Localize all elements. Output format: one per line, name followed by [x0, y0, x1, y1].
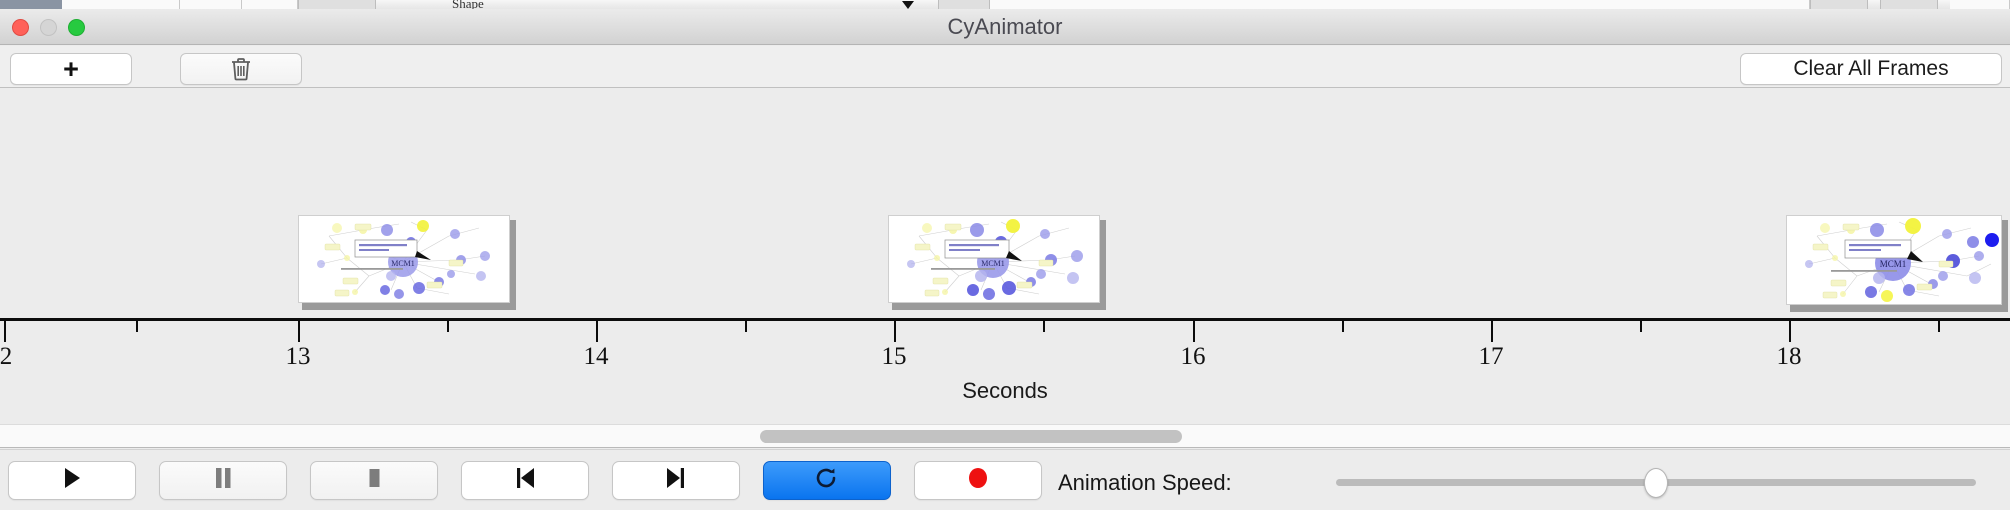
axis-tick-major — [1491, 321, 1493, 342]
svg-text:MCM1: MCM1 — [1880, 259, 1907, 269]
axis-tick-minor — [1640, 321, 1642, 332]
trash-icon — [230, 57, 252, 81]
timeline-axis: 2 13 14 15 16 17 18 Seconds — [0, 318, 2010, 422]
add-frame-button[interactable]: + — [10, 53, 132, 85]
network-thumbnail: MCM1 — [888, 215, 1100, 303]
record-icon — [967, 467, 989, 494]
axis-tick-major — [894, 321, 896, 342]
plus-icon: + — [63, 56, 79, 83]
background-sidebar — [0, 0, 62, 9]
background-window-label: Shape — [452, 0, 484, 9]
network-thumbnail: MCM1 — [298, 215, 510, 303]
play-icon — [62, 467, 82, 494]
axis-label: 13 — [286, 343, 311, 371]
play-button[interactable] — [8, 461, 136, 500]
clear-all-frames-button[interactable]: Clear All Frames — [1740, 53, 2002, 85]
axis-baseline — [0, 318, 2010, 321]
axis-label: 14 — [584, 343, 609, 371]
axis-label: 18 — [1777, 343, 1802, 371]
svg-text:MCM1: MCM1 — [981, 259, 1005, 268]
timeline-scrollbar[interactable] — [0, 424, 2010, 448]
scrollbar-thumb[interactable] — [760, 430, 1182, 443]
animation-speed-slider[interactable] — [1336, 479, 1976, 486]
pause-icon — [213, 467, 233, 494]
stop-button[interactable] — [310, 461, 438, 500]
axis-tick-minor — [136, 321, 138, 332]
axis-label: 17 — [1479, 343, 1504, 371]
axis-label: 15 — [882, 343, 907, 371]
axis-tick-major — [298, 321, 300, 342]
record-button[interactable] — [914, 461, 1042, 500]
background-tab — [1880, 0, 1938, 9]
window-title: CyAnimator — [0, 9, 2010, 45]
background-segment — [62, 0, 180, 9]
background-tab — [298, 0, 376, 9]
delete-frame-button[interactable] — [180, 53, 302, 85]
axis-tick-minor — [1938, 321, 1940, 332]
background-tab — [938, 0, 990, 9]
network-thumbnail: MCM1 — [1786, 215, 2002, 305]
axis-title: Seconds — [0, 378, 2010, 404]
svg-text:MCM1: MCM1 — [391, 259, 415, 268]
axis-tick-minor — [1043, 321, 1045, 332]
stop-icon — [364, 467, 384, 494]
cyanimator-window: Shape CyAnimator + — [0, 0, 2010, 510]
background-window-strip: Shape — [0, 0, 2010, 9]
background-tab — [1810, 0, 1868, 9]
axis-label: 16 — [1181, 343, 1206, 371]
axis-tick-major — [1193, 321, 1195, 342]
timeline-panel[interactable]: MCM1 — [0, 89, 2010, 321]
frame-thumbnail-3[interactable]: MCM1 — [1786, 215, 2004, 307]
background-segment — [242, 0, 298, 9]
frame-thumbnail-1[interactable]: MCM1 — [298, 215, 512, 305]
axis-tick-minor — [745, 321, 747, 332]
axis-label: 2 — [0, 343, 12, 371]
axis-tick-major — [596, 321, 598, 342]
background-segment — [180, 0, 242, 9]
title-bar[interactable]: CyAnimator — [0, 9, 2010, 45]
background-caret-icon — [902, 1, 914, 9]
loop-button[interactable] — [763, 461, 891, 500]
playback-control-bar: Animation Speed: — [0, 449, 2010, 510]
background-segment — [990, 0, 1810, 9]
skip-back-icon — [513, 467, 537, 494]
animation-speed-slider-thumb[interactable] — [1644, 468, 1668, 498]
skip-to-start-button[interactable] — [461, 461, 589, 500]
axis-tick-minor — [1342, 321, 1344, 332]
animation-speed-label: Animation Speed: — [1058, 470, 1232, 496]
toolbar: + Clear All Frames — [0, 46, 2010, 88]
pause-button[interactable] — [159, 461, 287, 500]
clear-all-frames-label: Clear All Frames — [1793, 57, 1948, 81]
background-segment — [1950, 0, 2010, 9]
loop-icon — [815, 466, 839, 495]
axis-tick-major — [1789, 321, 1791, 342]
axis-tick-major — [4, 321, 6, 342]
frame-thumbnail-2[interactable]: MCM1 — [888, 215, 1102, 305]
axis-tick-minor — [447, 321, 449, 332]
skip-to-end-button[interactable] — [612, 461, 740, 500]
skip-forward-icon — [664, 467, 688, 494]
